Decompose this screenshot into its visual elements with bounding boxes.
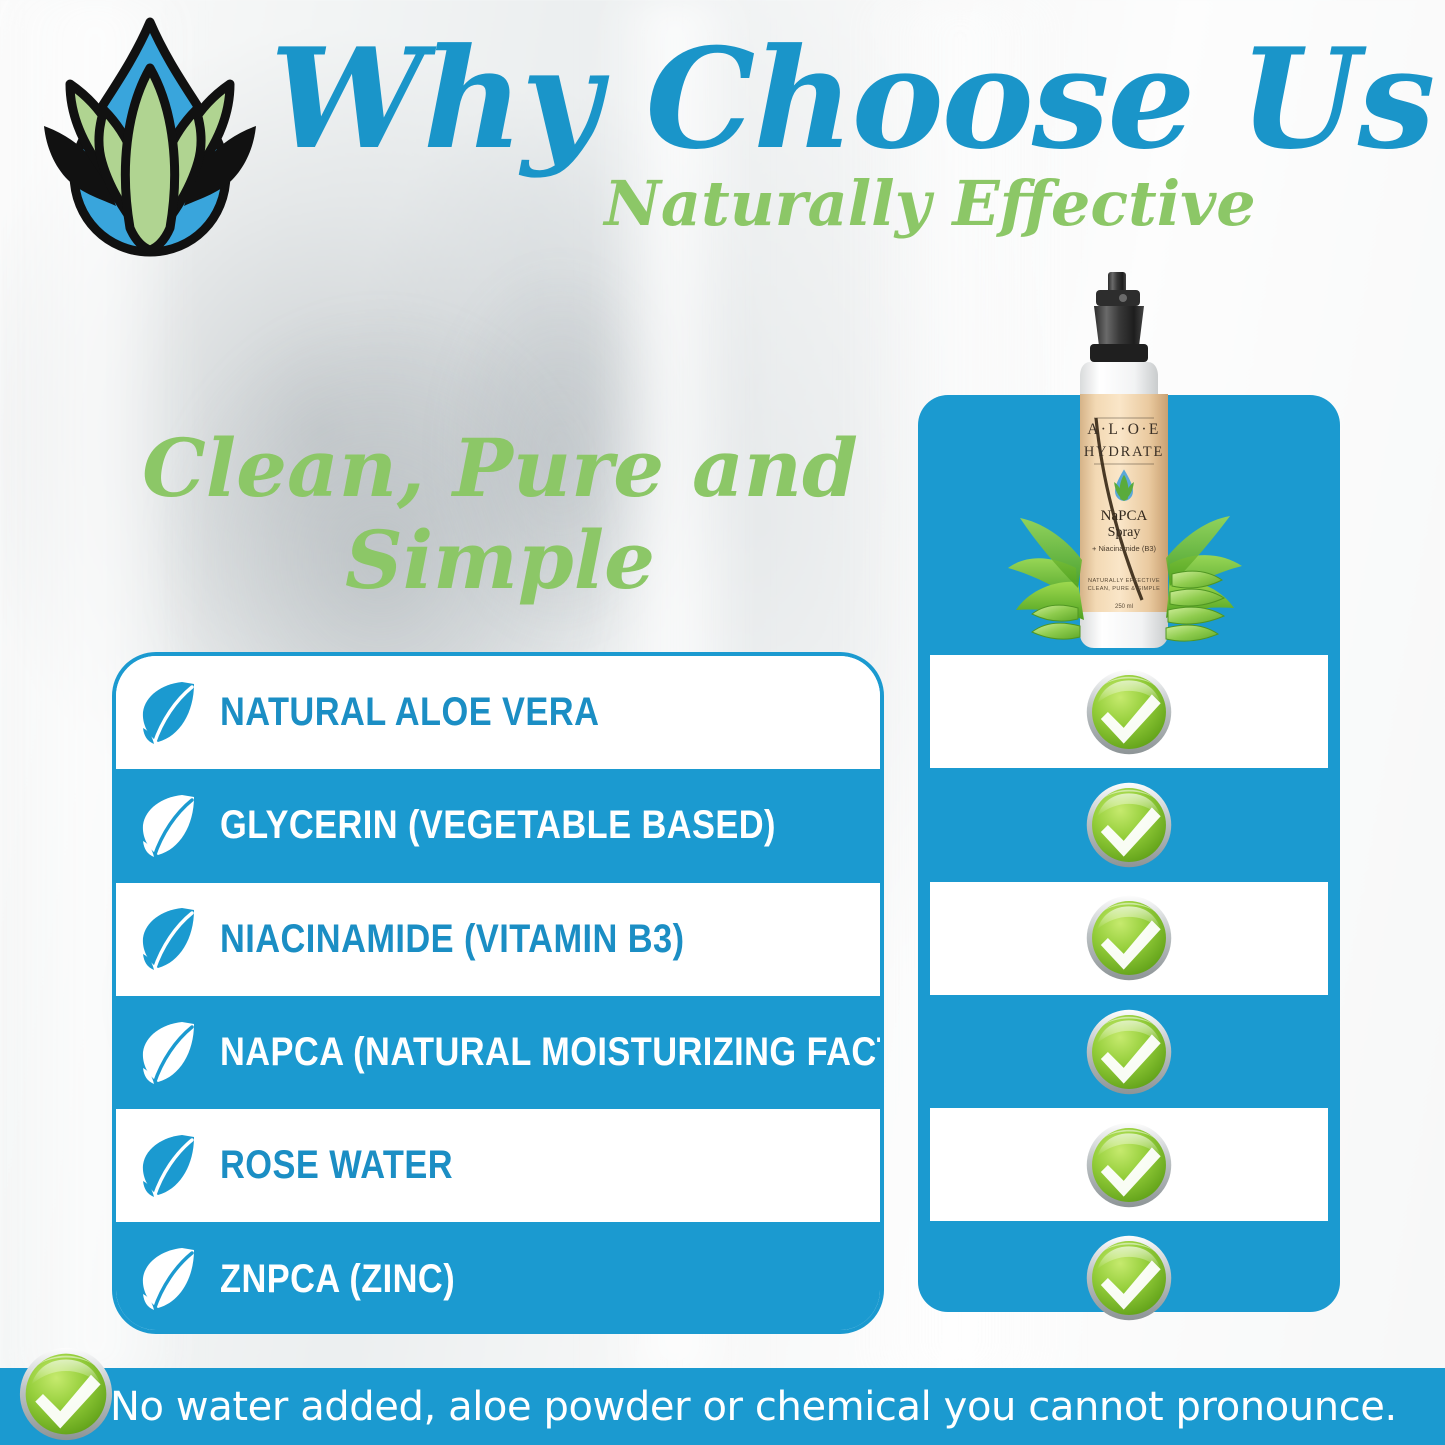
- leaf-icon: [138, 1244, 200, 1314]
- bottom-banner: No water added, aloe powder or chemical …: [0, 1368, 1445, 1445]
- page-title: Why Choose Us?: [270, 14, 1430, 189]
- product-checklist-card: [918, 395, 1340, 1312]
- green-check-icon: [1085, 1121, 1173, 1209]
- ingredient-label: ROSE WATER: [220, 1143, 453, 1188]
- infographic-canvas: Why Choose Us? Naturally Effective Clean…: [0, 0, 1445, 1445]
- ingredient-label: NATURAL ALOE VERA: [220, 690, 599, 735]
- aloe-logo-icon: [30, 14, 270, 264]
- green-check-icon: [1085, 894, 1173, 982]
- ingredient-label: NIACINAMIDE (VITAMIN B3): [220, 917, 685, 962]
- ingredient-row: NATURAL ALOE VERA: [116, 656, 880, 769]
- leaf-icon: [138, 904, 200, 974]
- ingredient-row: ROSE WATER: [116, 1109, 880, 1222]
- ingredient-label: NAPCA (NATURAL MOISTURIZING FACTOR): [220, 1030, 884, 1075]
- leaf-icon: [138, 791, 200, 861]
- leaf-icon: [138, 1131, 200, 1201]
- green-check-icon: [1085, 1234, 1173, 1322]
- green-check-icon: [1085, 781, 1173, 869]
- ingredient-label: GLYCERIN (VEGETABLE BASED): [220, 803, 776, 848]
- green-check-icon: [1085, 668, 1173, 756]
- leaf-icon: [138, 1018, 200, 1088]
- ingredient-row: NIACINAMIDE (VITAMIN B3): [116, 883, 880, 996]
- ingredient-row: NAPCA (NATURAL MOISTURIZING FACTOR): [116, 996, 880, 1109]
- ingredient-label: ZNPCA (ZINC): [220, 1257, 455, 1302]
- page-subtitle: Naturally Effective: [430, 165, 1430, 245]
- ingredient-row: GLYCERIN (VEGETABLE BASED): [116, 769, 880, 882]
- green-check-icon: [1085, 1008, 1173, 1096]
- ingredient-list-card: NATURAL ALOE VERAGLYCERIN (VEGETABLE BAS…: [112, 652, 884, 1334]
- leaf-icon: [138, 678, 200, 748]
- green-check-badge-icon: [18, 1346, 114, 1442]
- headline-clean-pure-simple: Clean, Pure and Simple: [120, 422, 880, 606]
- ingredient-row: ZNPCA (ZINC): [116, 1222, 880, 1334]
- bottom-banner-text: No water added, aloe powder or chemical …: [110, 1384, 1397, 1430]
